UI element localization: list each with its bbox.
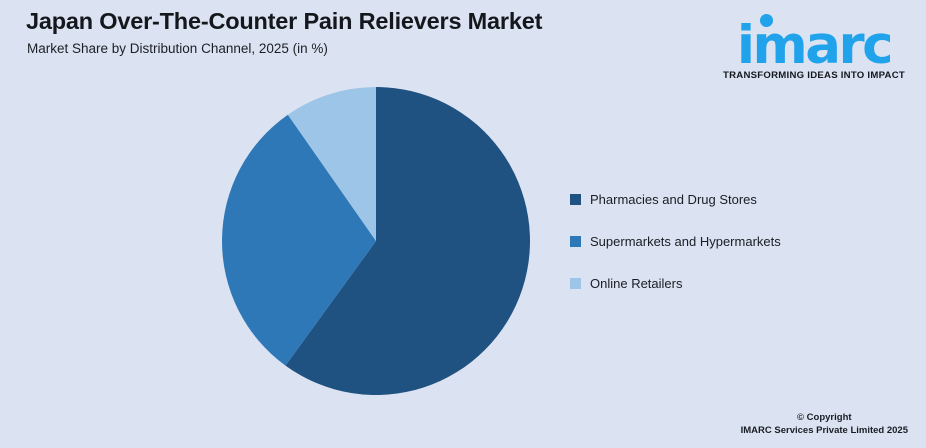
- legend-item[interactable]: Supermarkets and Hypermarkets: [570, 220, 890, 262]
- page-subtitle: Market Share by Distribution Channel, 20…: [27, 41, 328, 56]
- legend-item[interactable]: Pharmacies and Drug Stores: [570, 178, 890, 220]
- legend-item-label: Pharmacies and Drug Stores: [590, 192, 757, 207]
- page-title: Japan Over-The-Counter Pain Relievers Ma…: [26, 8, 542, 35]
- imarc-logo: imarc TRANSFORMING IDEAS INTO IMPACT: [716, 6, 912, 84]
- legend-item[interactable]: Online Retailers: [570, 262, 890, 304]
- logo-wordmark: imarc: [716, 19, 912, 72]
- copyright-line-1: © Copyright: [741, 411, 908, 424]
- logo-tagline: TRANSFORMING IDEAS INTO IMPACT: [716, 70, 912, 81]
- pie-chart-svg: [222, 87, 530, 395]
- legend-swatch-icon: [570, 236, 581, 247]
- legend-item-label: Online Retailers: [590, 276, 683, 291]
- chart-legend: Pharmacies and Drug StoresSupermarkets a…: [570, 178, 890, 304]
- legend-item-label: Supermarkets and Hypermarkets: [590, 234, 781, 249]
- copyright-line-2: IMARC Services Private Limited 2025: [741, 424, 908, 437]
- legend-swatch-icon: [570, 278, 581, 289]
- pie-chart: [222, 87, 530, 395]
- chart-canvas: Japan Over-The-Counter Pain Relievers Ma…: [0, 0, 926, 448]
- copyright-notice: © Copyright IMARC Services Private Limit…: [741, 411, 908, 437]
- legend-swatch-icon: [570, 194, 581, 205]
